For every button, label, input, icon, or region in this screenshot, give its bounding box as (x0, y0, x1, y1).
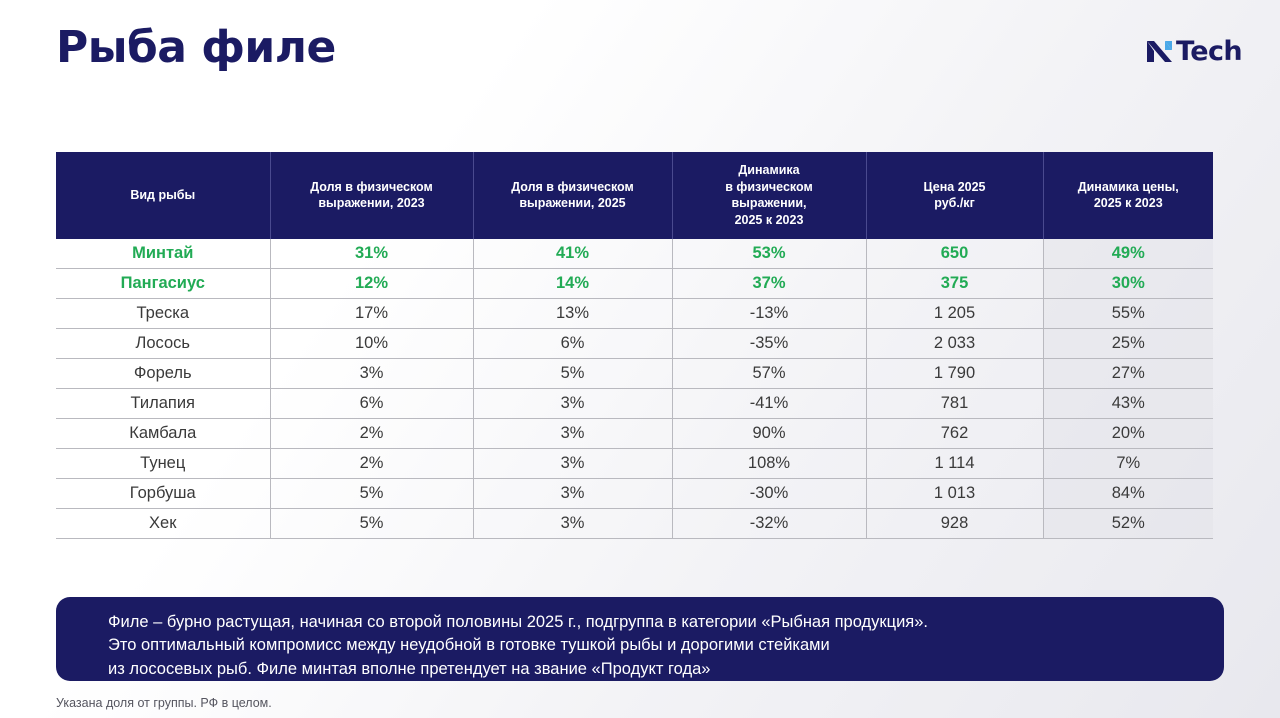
cell-share-2023: 31% (270, 239, 473, 269)
cell-volume-dynamics: -41% (672, 389, 866, 419)
column-header-price-2025: Цена 2025 руб./кг (866, 152, 1043, 239)
header-line: Динамика (679, 162, 860, 179)
cell-volume-dynamics: -35% (672, 329, 866, 359)
cell-share-2025: 41% (473, 239, 672, 269)
column-header-volume-dynamics: Динамика в физическом выражении, 2025 к … (672, 152, 866, 239)
table-row: Форель3%5%57%1 79027% (56, 359, 1213, 389)
cell-share-2023: 10% (270, 329, 473, 359)
cell-fish-type: Пангасиус (56, 269, 270, 299)
table-header-row: Вид рыбы Доля в физическом выражении, 20… (56, 152, 1213, 239)
cell-share-2025: 13% (473, 299, 672, 329)
cell-share-2023: 5% (270, 479, 473, 509)
cell-volume-dynamics: 108% (672, 449, 866, 479)
table-body: Минтай31%41%53%65049%Пангасиус12%14%37%3… (56, 239, 1213, 539)
header-line: в физическом (679, 179, 860, 196)
cell-volume-dynamics: -30% (672, 479, 866, 509)
cell-price-dynamics: 25% (1043, 329, 1213, 359)
cell-price-dynamics: 43% (1043, 389, 1213, 419)
cell-share-2025: 14% (473, 269, 672, 299)
cell-volume-dynamics: -32% (672, 509, 866, 539)
cell-share-2023: 17% (270, 299, 473, 329)
header-line: Динамика цены, (1050, 179, 1208, 196)
cell-price-dynamics: 7% (1043, 449, 1213, 479)
header-line: выражении, 2023 (277, 195, 467, 212)
cell-share-2023: 2% (270, 419, 473, 449)
table-row: Лосось10%6%-35%2 03325% (56, 329, 1213, 359)
cell-price-dynamics: 84% (1043, 479, 1213, 509)
column-header-share-2025: Доля в физическом выражении, 2025 (473, 152, 672, 239)
cell-price-dynamics: 52% (1043, 509, 1213, 539)
table-row: Минтай31%41%53%65049% (56, 239, 1213, 269)
header-line: руб./кг (873, 195, 1037, 212)
cell-share-2025: 5% (473, 359, 672, 389)
cell-volume-dynamics: -13% (672, 299, 866, 329)
cell-share-2023: 3% (270, 359, 473, 389)
cell-price-2025: 1 790 (866, 359, 1043, 389)
cell-volume-dynamics: 53% (672, 239, 866, 269)
cell-share-2023: 2% (270, 449, 473, 479)
cell-fish-type: Камбала (56, 419, 270, 449)
cell-price-2025: 2 033 (866, 329, 1043, 359)
cell-fish-type: Лосось (56, 329, 270, 359)
cell-fish-type: Хек (56, 509, 270, 539)
cell-share-2025: 3% (473, 479, 672, 509)
table-row: Горбуша5%3%-30%1 01384% (56, 479, 1213, 509)
table-row: Хек5%3%-32%92852% (56, 509, 1213, 539)
cell-price-2025: 781 (866, 389, 1043, 419)
cell-fish-type: Тунец (56, 449, 270, 479)
cell-price-2025: 650 (866, 239, 1043, 269)
column-header-share-2023: Доля в физическом выражении, 2023 (270, 152, 473, 239)
cell-fish-type: Форель (56, 359, 270, 389)
cell-price-dynamics: 55% (1043, 299, 1213, 329)
cell-price-2025: 762 (866, 419, 1043, 449)
table-row: Тунец2%3%108%1 1147% (56, 449, 1213, 479)
cell-price-2025: 1 205 (866, 299, 1043, 329)
header-line: 2025 к 2023 (1050, 195, 1208, 212)
callout-box: Филе – бурно растущая, начиная со второй… (56, 597, 1224, 681)
brand-logo: Tech (1146, 38, 1242, 65)
cell-price-2025: 928 (866, 509, 1043, 539)
cell-share-2025: 3% (473, 389, 672, 419)
cell-share-2023: 12% (270, 269, 473, 299)
footnote: Указана доля от группы. РФ в целом. (56, 696, 272, 710)
header-line: Цена 2025 (873, 179, 1037, 196)
callout-line: Это оптимальный компромисс между неудобн… (108, 634, 1172, 657)
cell-share-2025: 3% (473, 449, 672, 479)
cell-price-dynamics: 27% (1043, 359, 1213, 389)
header-line: Доля в физическом (480, 179, 666, 196)
table-row: Треска17%13%-13%1 20555% (56, 299, 1213, 329)
column-header-fish-type: Вид рыбы (56, 152, 270, 239)
cell-fish-type: Тилапия (56, 389, 270, 419)
page-title: Рыба филе (56, 22, 336, 73)
cell-share-2025: 3% (473, 509, 672, 539)
cell-volume-dynamics: 57% (672, 359, 866, 389)
cell-volume-dynamics: 90% (672, 419, 866, 449)
table-row: Камбала2%3%90%76220% (56, 419, 1213, 449)
header-line: выражении, 2025 (480, 195, 666, 212)
cell-share-2023: 6% (270, 389, 473, 419)
cell-price-dynamics: 30% (1043, 269, 1213, 299)
header-line: 2025 к 2023 (679, 212, 860, 229)
table-row: Тилапия6%3%-41%78143% (56, 389, 1213, 419)
callout-line: Филе – бурно растущая, начиная со второй… (108, 611, 1172, 634)
table-row: Пангасиус12%14%37%37530% (56, 269, 1213, 299)
header-line: Доля в физическом (277, 179, 467, 196)
fish-data-table: Вид рыбы Доля в физическом выражении, 20… (56, 152, 1213, 539)
header-line: Вид рыбы (62, 187, 264, 204)
cell-price-2025: 375 (866, 269, 1043, 299)
cell-volume-dynamics: 37% (672, 269, 866, 299)
header-line: выражении, (679, 195, 860, 212)
cell-price-2025: 1 013 (866, 479, 1043, 509)
cell-price-2025: 1 114 (866, 449, 1043, 479)
cell-price-dynamics: 20% (1043, 419, 1213, 449)
slide-canvas: Рыба филе Tech Вид рыбы Доля в физическо… (0, 0, 1280, 718)
n-logo-icon (1146, 38, 1174, 65)
column-header-price-dynamics: Динамика цены, 2025 к 2023 (1043, 152, 1213, 239)
cell-share-2025: 3% (473, 419, 672, 449)
cell-share-2023: 5% (270, 509, 473, 539)
cell-price-dynamics: 49% (1043, 239, 1213, 269)
brand-logo-text: Tech (1176, 38, 1242, 65)
cell-fish-type: Горбуша (56, 479, 270, 509)
cell-share-2025: 6% (473, 329, 672, 359)
callout-line: из лососевых рыб. Филе минтая вполне пре… (108, 658, 1172, 681)
cell-fish-type: Треска (56, 299, 270, 329)
cell-fish-type: Минтай (56, 239, 270, 269)
